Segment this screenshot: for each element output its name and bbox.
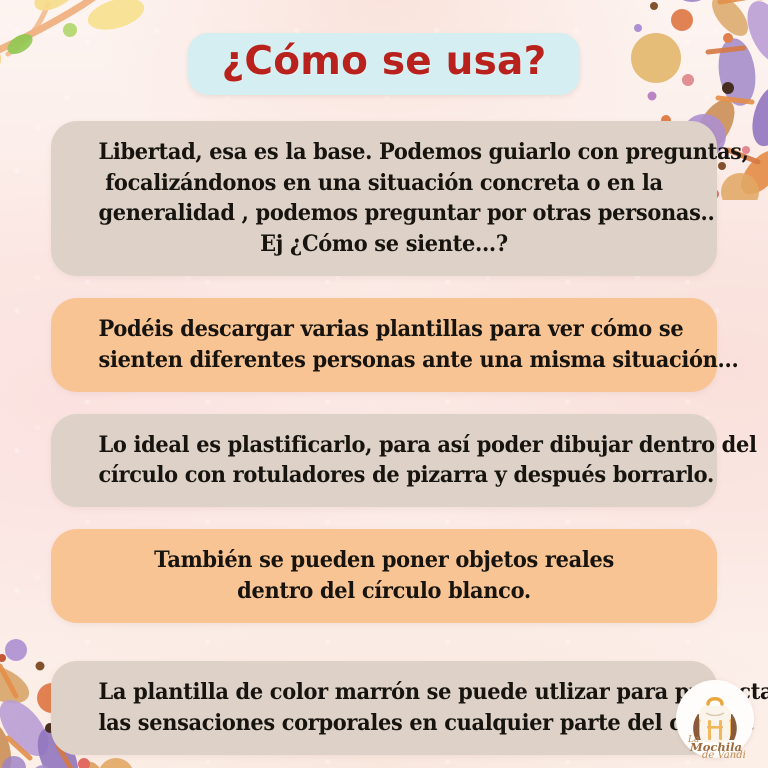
card-1-line-2: focalizándonos en una situación concreta…: [98, 168, 669, 199]
backpack-icon: La Mochila de Vandi: [676, 680, 754, 758]
card-5-line-2: las sensaciones corporales en cualquier …: [98, 708, 669, 739]
brand-logo: La Mochila de Vandi: [676, 680, 754, 758]
info-card-4: También se pueden poner objetos reales d…: [51, 529, 717, 623]
info-card-2: Podéis descargar varias plantillas para …: [51, 298, 717, 392]
card-1-line-1: Libertad, esa es la base. Podemos guiarl…: [98, 137, 669, 168]
info-card-1: Libertad, esa es la base. Podemos guiarl…: [51, 121, 717, 276]
card-2-line-1: Podéis descargar varias plantillas para …: [98, 314, 669, 345]
card-1-line-3: generalidad , podemos preguntar por otra…: [98, 198, 669, 229]
logo-line-3: de Vandi: [702, 750, 746, 758]
page-title: ¿Cómo se usa?: [222, 42, 547, 82]
card-3-line-1: Lo ideal es plastificarlo, para así pode…: [98, 430, 669, 461]
card-4-line-2: dentro del círculo blanco.: [98, 576, 669, 607]
info-card-3: Lo ideal es plastificarlo, para así pode…: [51, 414, 717, 508]
card-2-line-2: sienten diferentes personas ante una mis…: [98, 345, 669, 376]
card-5-line-1: La plantilla de color marrón se puede ut…: [98, 677, 669, 708]
card-4-line-1: También se pueden poner objetos reales: [98, 545, 669, 576]
page-title-card: ¿Cómo se usa?: [188, 33, 581, 95]
card-3-line-2: círculo con rotuladores de pizarra y des…: [98, 460, 669, 491]
info-card-5: La plantilla de color marrón se puede ut…: [51, 661, 717, 755]
card-1-line-4: Ej ¿Cómo se siente...?: [98, 229, 669, 260]
